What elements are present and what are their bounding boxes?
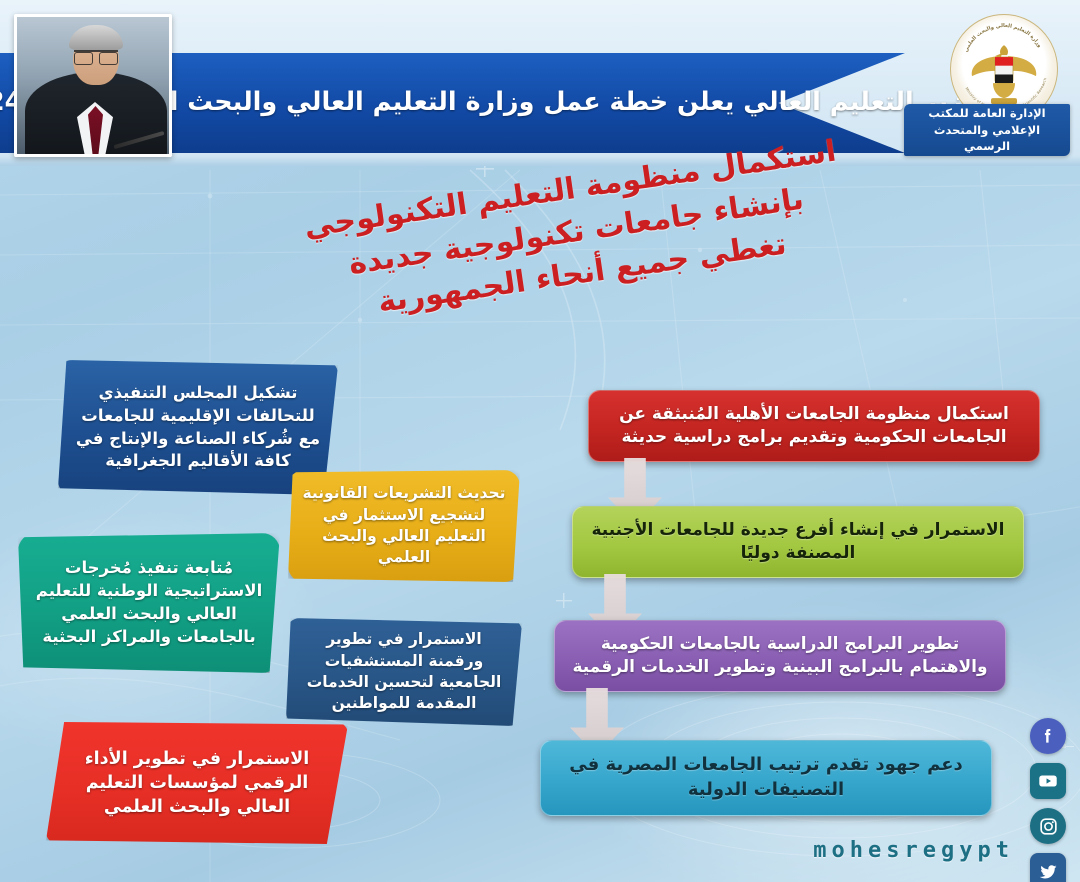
info-box-university-hospitals[interactable]: الاستمرار في تطوير ورقمنة المستشفيات الج… <box>286 618 522 726</box>
facebook-link[interactable] <box>1030 718 1066 754</box>
info-box-international-rankings[interactable]: دعم جهود تقدم ترتيب الجامعات المصرية في … <box>540 740 992 816</box>
social-handle: mohesregypt <box>813 838 1014 863</box>
eagle-of-saladin-icon: وزارة التعليم العالي والبحث العلمي Minis… <box>956 19 1052 115</box>
twitter-link[interactable] <box>1030 853 1066 882</box>
page-title: وزير التعليم العالي يعلن خطة عمل وزارة ا… <box>120 62 810 144</box>
instagram-link[interactable] <box>1030 808 1066 844</box>
info-box-digital-performance[interactable]: الاستمرار في تطوير الأداء الرقمي لمؤسسات… <box>46 722 348 844</box>
youtube-icon <box>1037 770 1059 792</box>
media-office-label: الإدارة العامة للمكتب الإعلامي والمتحدث … <box>904 104 1070 156</box>
social-links <box>1030 718 1066 882</box>
minister-photo <box>14 14 172 157</box>
info-box-national-strategy[interactable]: مُتابعة تنفيذ مُخرجات الاستراتيجية الوطن… <box>18 533 280 673</box>
info-box-national-universities[interactable]: استكمال منظومة الجامعات الأهلية المُنبثق… <box>588 390 1040 462</box>
infographic-poster: وزير التعليم العالي يعلن خطة عمل وزارة ا… <box>0 0 1080 882</box>
facebook-icon <box>1038 726 1058 746</box>
youtube-link[interactable] <box>1030 763 1066 799</box>
info-box-study-programs[interactable]: تطوير البرامج الدراسية بالجامعات الحكومي… <box>554 620 1006 692</box>
info-box-legislation-update[interactable]: تحديث التشريعات القانونية لتشجيع الاستثم… <box>288 470 520 582</box>
instagram-icon <box>1038 816 1059 837</box>
info-box-foreign-branches[interactable]: الاستمرار في إنشاء أفرع جديدة للجامعات ا… <box>572 506 1024 578</box>
photo-glasses <box>74 50 118 61</box>
twitter-icon <box>1038 861 1059 882</box>
